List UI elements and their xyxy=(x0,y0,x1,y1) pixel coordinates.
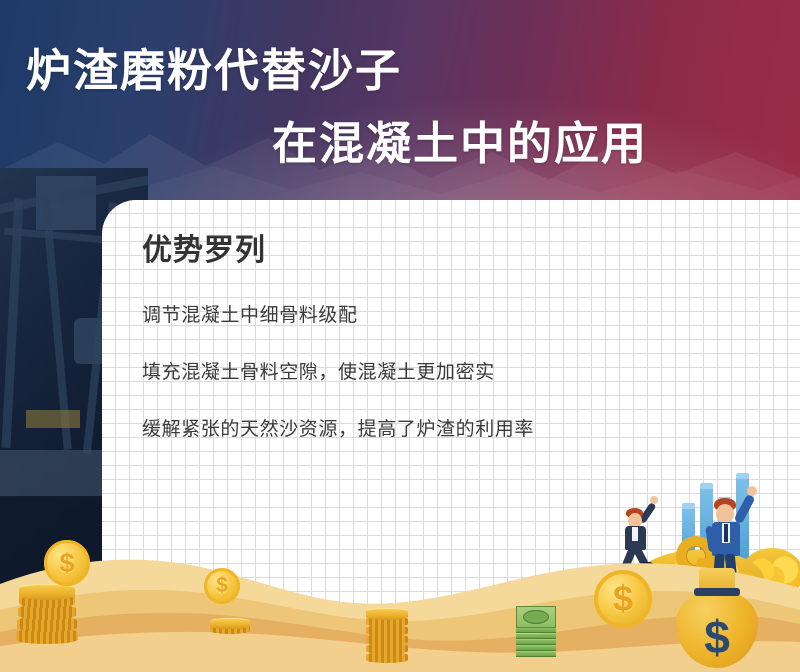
photo-equipment-shape xyxy=(26,410,80,428)
banner-title-line-2: 在混凝土中的应用 xyxy=(272,121,648,166)
stacked-coin xyxy=(17,616,77,632)
stacked-coin xyxy=(16,628,78,644)
list-item: 填充混凝土骨料空隙，使混凝土更加密实 xyxy=(142,363,762,382)
card-heading: 优势罗列 xyxy=(142,236,266,266)
photo-column-shape xyxy=(1,198,23,448)
advantages-list: 调节混凝土中细骨料级配 填充混凝土骨料空隙，使混凝土更加密实 缓解紧张的天然沙资… xyxy=(142,306,762,477)
list-item: 缓解紧张的天然沙资源，提高了炉渣的利用率 xyxy=(142,420,762,439)
poster-page: 炉渣磨粉代替沙子 在混凝土中的应用 优势罗列 调节混凝土中细骨料级配 填充混凝土… xyxy=(0,0,800,672)
banner-title-line-1: 炉渣磨粉代替沙子 xyxy=(26,48,402,93)
content-card: 优势罗列 调节混凝土中细骨料级配 填充混凝土骨料空隙，使混凝土更加密实 缓解紧张… xyxy=(102,200,800,672)
list-item: 调节混凝土中细骨料级配 xyxy=(142,306,762,325)
